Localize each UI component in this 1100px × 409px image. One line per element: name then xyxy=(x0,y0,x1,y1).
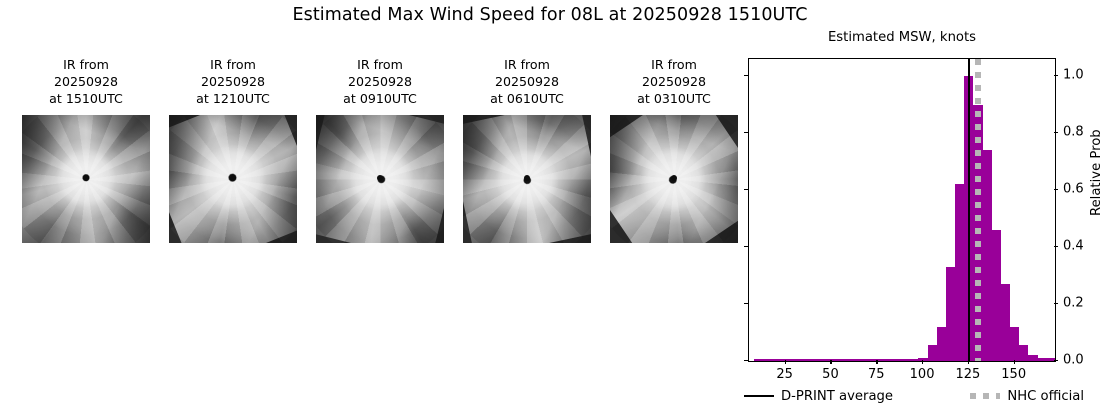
ir-panel-1210utc: IR from20250928at 1210UTC xyxy=(169,56,297,243)
x-axis-tick xyxy=(830,360,831,364)
histogram-bar xyxy=(900,359,909,361)
histogram-bar xyxy=(818,359,827,361)
legend-label-dprint: D-PRINT average xyxy=(781,389,893,404)
histogram-bar xyxy=(754,359,763,361)
histogram-bar xyxy=(809,359,818,361)
y-axis-tick xyxy=(1054,303,1058,304)
y-axis-tick xyxy=(1054,132,1058,133)
x-axis-tick-label: 150 xyxy=(1001,367,1026,382)
chart-plot-area xyxy=(748,58,1056,362)
histogram-bar xyxy=(909,359,918,361)
dprint-average-line xyxy=(968,59,970,361)
ir-satellite-image xyxy=(22,115,150,243)
ir-satellite-image xyxy=(610,115,738,243)
x-axis-tick-label: 125 xyxy=(955,367,980,382)
y-axis-tick xyxy=(1054,246,1058,247)
y-axis-tick xyxy=(1054,360,1058,361)
histogram-bar xyxy=(854,359,863,361)
ir-satellite-image xyxy=(169,115,297,243)
y-axis-tick-label: 0.4 xyxy=(1063,239,1084,254)
y-axis-tick-label: 0.0 xyxy=(1063,353,1084,368)
y-axis-tick xyxy=(744,189,748,190)
x-axis-tick xyxy=(922,360,923,364)
histogram-bar xyxy=(1038,358,1047,361)
histogram-bar xyxy=(946,267,955,361)
y-axis-tick xyxy=(744,246,748,247)
histogram-bar xyxy=(1028,355,1037,361)
histogram-bar xyxy=(992,230,1001,361)
histogram-bar xyxy=(790,359,799,361)
storm-eye xyxy=(671,175,677,181)
histogram-bar xyxy=(799,359,808,361)
y-axis-tick xyxy=(744,75,748,76)
y-axis-tick-label: 1.0 xyxy=(1063,68,1084,83)
legend-label-nhc: NHC official xyxy=(1007,389,1084,404)
storm-eye xyxy=(83,175,89,181)
ir-panel-0910utc: IR from20250928at 0910UTC xyxy=(316,56,444,243)
x-axis-tick xyxy=(968,360,969,364)
chart-title: Estimated MSW, knots xyxy=(748,30,1056,45)
y-axis-tick-label: 0.6 xyxy=(1063,182,1084,197)
x-axis-tick xyxy=(785,360,786,364)
histogram-bar xyxy=(763,359,772,361)
y-axis-tick xyxy=(744,303,748,304)
histogram-panel: Estimated MSW, knots Relative Prob 25507… xyxy=(740,30,1085,409)
y-axis-tick xyxy=(744,132,748,133)
histogram-bar xyxy=(928,345,937,361)
page-title: Estimated Max Wind Speed for 08L at 2025… xyxy=(0,5,1100,25)
histogram-bar xyxy=(864,359,873,361)
ir-panel-row: IR from20250928at 1510UTC IR from2025092… xyxy=(22,56,738,286)
histogram-bar xyxy=(1019,345,1028,361)
x-axis-tick xyxy=(1014,360,1015,364)
y-axis-tick xyxy=(1054,75,1058,76)
histogram-bar xyxy=(1001,284,1010,361)
x-axis-tick xyxy=(876,360,877,364)
histogram-bar xyxy=(937,327,946,361)
histogram-bar xyxy=(772,359,781,361)
histogram-bar xyxy=(882,359,891,361)
ir-panel-0310utc: IR from20250928at 0310UTC xyxy=(610,56,738,243)
dotted-line-icon xyxy=(970,393,1000,399)
ir-panel-caption: IR from20250928at 0910UTC xyxy=(316,56,444,107)
ir-panel-caption: IR from20250928at 1210UTC xyxy=(169,56,297,107)
x-axis-tick-label: 75 xyxy=(868,367,885,382)
histogram-bars xyxy=(749,59,1055,361)
ir-panel-0610utc: IR from20250928at 0610UTC xyxy=(463,56,591,243)
storm-eye xyxy=(377,175,383,181)
histogram-bar xyxy=(845,359,854,361)
y-axis-label: Relative Prob xyxy=(1089,129,1100,216)
histogram-bar xyxy=(891,359,900,361)
legend-entry-dprint: D-PRINT average xyxy=(744,389,893,404)
ir-panel-caption: IR from20250928at 1510UTC xyxy=(22,56,150,107)
histogram-bar xyxy=(983,150,992,361)
ir-satellite-image xyxy=(463,115,591,243)
ir-satellite-image xyxy=(316,115,444,243)
x-axis-tick-label: 25 xyxy=(776,367,793,382)
legend-entry-nhc: NHC official xyxy=(970,389,1084,404)
chart-legend: D-PRINT average NHC official xyxy=(744,386,1084,406)
ir-panel-caption: IR from20250928at 0310UTC xyxy=(610,56,738,107)
solid-line-icon xyxy=(744,395,774,397)
histogram-bar xyxy=(955,184,964,361)
ir-panel-1510utc: IR from20250928at 1510UTC xyxy=(22,56,150,243)
ir-panel-caption: IR from20250928at 0610UTC xyxy=(463,56,591,107)
histogram-bar xyxy=(1010,327,1019,361)
y-axis-tick xyxy=(1054,189,1058,190)
nhc-official-line xyxy=(975,59,981,361)
x-axis-tick-label: 100 xyxy=(910,367,935,382)
y-axis-tick-label: 0.2 xyxy=(1063,296,1084,311)
storm-eye xyxy=(230,175,236,181)
storm-eye xyxy=(524,175,530,181)
x-axis-tick-label: 50 xyxy=(822,367,839,382)
histogram-bar xyxy=(836,359,845,361)
y-axis-tick xyxy=(744,360,748,361)
y-axis-tick-label: 0.8 xyxy=(1063,125,1084,140)
